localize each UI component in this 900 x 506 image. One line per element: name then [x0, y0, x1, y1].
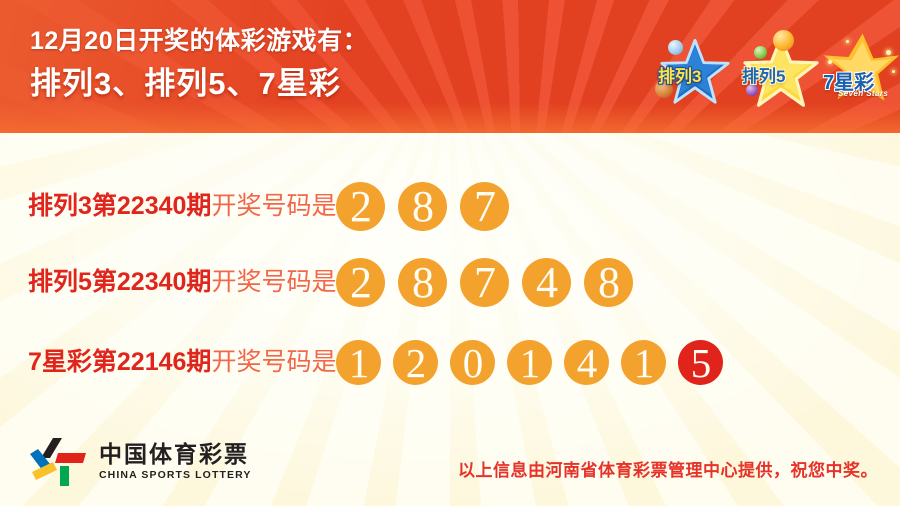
number-ball: 8	[398, 258, 447, 307]
number-ball-special: 5	[678, 340, 723, 385]
game-logo-badges: 排列3 排列5	[644, 22, 894, 118]
decor-ball-orange	[773, 30, 794, 51]
result-label-light: 开奖号码是	[211, 192, 336, 220]
result-row-qixingcai: 7星彩第22146期开奖号码是 1 2 0 1 4 1 5	[28, 340, 723, 385]
badge-qixingcai: 7星彩 Seven Stars	[822, 30, 900, 112]
number-ball: 1	[621, 340, 666, 385]
number-ball: 2	[336, 182, 385, 231]
result-label: 排列3第22340期开奖号码是	[28, 194, 336, 219]
result-label: 7星彩第22146期开奖号码是	[28, 350, 336, 375]
result-numbers: 1 2 0 1 4 1 5	[336, 340, 723, 385]
sparkle-icon	[846, 40, 849, 43]
number-ball: 4	[522, 258, 571, 307]
lottery-result-poster: 12月20日开奖的体彩游戏有： 排列3、排列5、7星彩 排列3	[0, 0, 900, 506]
result-label-strong: 7星彩第22146期	[28, 348, 211, 376]
badge-pailie5: 排列5	[737, 30, 825, 110]
number-ball: 8	[584, 258, 633, 307]
number-ball: 4	[564, 340, 609, 385]
result-row-pailie5: 排列5第22340期开奖号码是 2 8 7 4 8	[28, 258, 633, 307]
number-ball: 1	[336, 340, 381, 385]
footer-disclaimer: 以上信息由河南省体育彩票管理中心提供，祝您中奖。	[458, 456, 878, 481]
number-ball: 7	[460, 182, 509, 231]
badge-label-pailie3: 排列3	[658, 62, 701, 87]
result-label-strong: 排列3第22340期	[28, 192, 211, 220]
number-ball: 7	[460, 258, 509, 307]
number-ball: 8	[398, 182, 447, 231]
result-label-strong: 排列5第22340期	[28, 268, 211, 296]
result-label-light: 开奖号码是	[211, 348, 336, 376]
logo-text-english: CHINA SPORTS LOTTERY	[99, 469, 251, 482]
number-ball: 0	[450, 340, 495, 385]
logo-strokes-icon	[28, 436, 90, 488]
badge-pailie3: 排列3	[652, 36, 738, 108]
decor-ball-green	[754, 46, 767, 59]
lottery-logo-mark	[28, 436, 90, 488]
number-ball: 1	[507, 340, 552, 385]
badge-label-pailie5: 排列5	[742, 62, 785, 87]
number-ball: 2	[393, 340, 438, 385]
result-label: 排列5第22340期开奖号码是	[28, 270, 336, 295]
header-line-2: 排列3、排列5、7星彩	[30, 65, 368, 102]
result-numbers: 2 8 7	[336, 182, 509, 231]
logo-text-block: 中国体育彩票 CHINA SPORTS LOTTERY	[99, 442, 251, 482]
footer: 中国体育彩票 CHINA SPORTS LOTTERY 以上信息由河南省体育彩票…	[0, 430, 900, 506]
sparkle-icon	[886, 50, 891, 55]
result-row-pailie3: 排列3第22340期开奖号码是 2 8 7	[28, 182, 509, 231]
header-banner: 12月20日开奖的体彩游戏有： 排列3、排列5、7星彩 排列3	[0, 0, 900, 133]
header-line-1: 12月20日开奖的体彩游戏有：	[30, 26, 368, 57]
number-ball: 2	[336, 258, 385, 307]
logo-text-chinese: 中国体育彩票	[99, 442, 251, 467]
result-label-light: 开奖号码是	[211, 268, 336, 296]
sparkle-icon	[828, 60, 832, 64]
badge-subtitle-seven-stars: Seven Stars	[838, 89, 888, 98]
header-text-block: 12月20日开奖的体彩游戏有： 排列3、排列5、7星彩	[30, 26, 368, 102]
decor-ball-blue	[668, 40, 683, 55]
sparkle-icon	[892, 70, 895, 73]
china-sports-lottery-logo: 中国体育彩票 CHINA SPORTS LOTTERY	[28, 436, 251, 488]
result-numbers: 2 8 7 4 8	[336, 258, 633, 307]
results-list: 排列3第22340期开奖号码是 2 8 7 排列5第22340期开奖号码是 2 …	[0, 133, 900, 433]
